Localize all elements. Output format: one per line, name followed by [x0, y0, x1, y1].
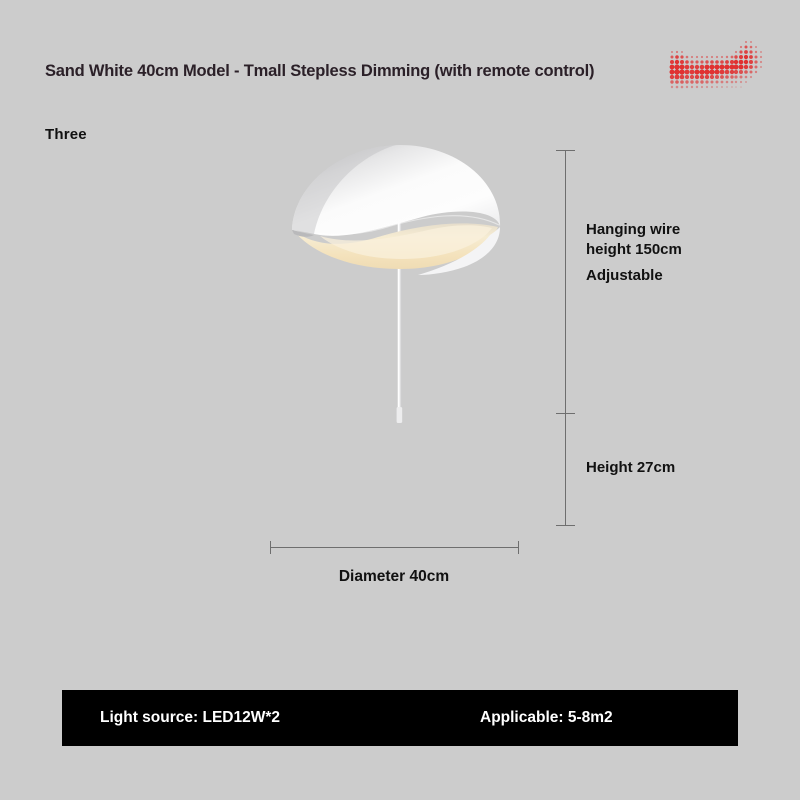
hanging-wire-height-line2: height 150cm: [586, 240, 682, 260]
applicable-area-spec: Applicable: 5-8m2: [480, 709, 613, 727]
shade-height-label: Height 27cm: [586, 458, 675, 478]
light-source-spec: Light source: LED12W*2: [100, 709, 280, 727]
diameter-label: Diameter 40cm: [270, 568, 518, 586]
hanging-wire-height-label: Hanging wire height 150cm: [586, 220, 682, 260]
horizontal-dimension-line: [270, 547, 518, 548]
diameter-tick-right: [518, 541, 519, 554]
variant-label: Three: [45, 126, 87, 143]
hanging-wire-height-line1: Hanging wire: [586, 220, 682, 240]
pendant-lamp-illustration: [250, 135, 550, 535]
spec-bar: Light source: LED12W*2 Applicable: 5-8m2: [62, 690, 738, 746]
page-title: Sand White 40cm Model - Tmall Stepless D…: [45, 62, 594, 81]
red-halftone-dots-graphic: [668, 36, 768, 100]
diameter-tick-left: [270, 541, 271, 554]
dimension-tick-middle: [556, 413, 575, 414]
dimension-tick-bottom: [556, 525, 575, 526]
adjustable-label: Adjustable: [586, 266, 663, 286]
dimension-tick-top: [556, 150, 575, 151]
product-spec-image: Sand White 40cm Model - Tmall Stepless D…: [0, 0, 800, 800]
vertical-dimension-line: [565, 150, 566, 525]
